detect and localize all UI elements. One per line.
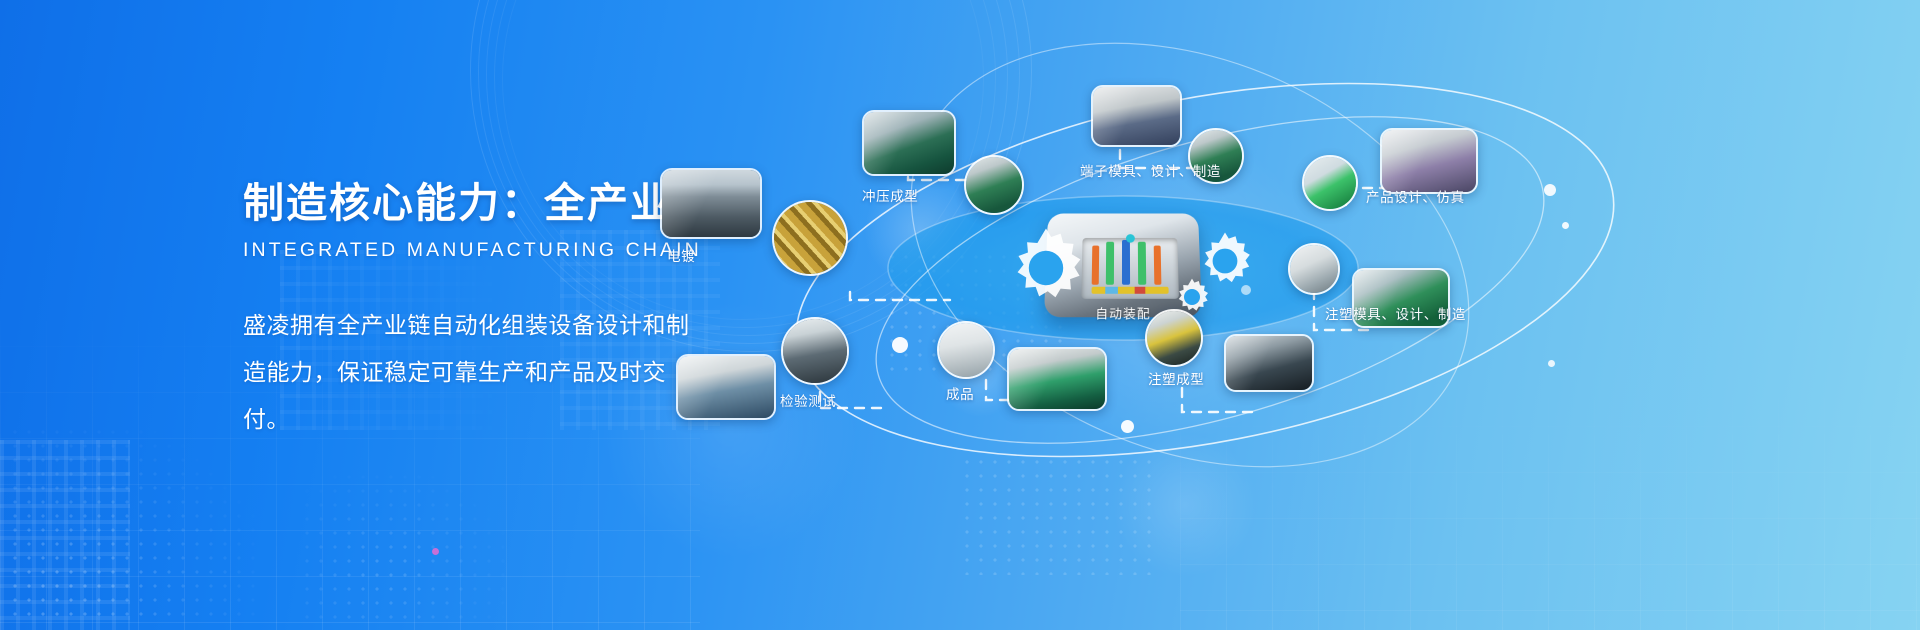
thumb-gloss: [678, 356, 774, 418]
thumb-gloss: [1382, 130, 1476, 192]
pin-green-2: [1138, 242, 1146, 285]
stamped-part-photo: [966, 157, 1022, 213]
page-description: 盛凌拥有全产业链自动化组装设备设计和制造能力，保证稳定可靠生产和产品及时交付。: [243, 302, 693, 443]
label-injection-form: 注塑成型: [1148, 368, 1204, 388]
machine-cavity: [1081, 238, 1179, 299]
node-product-design-icon[interactable]: [1302, 155, 1358, 211]
test-fixture-photo: [783, 319, 847, 383]
pin-blue: [1122, 240, 1130, 285]
thumb-gloss: [864, 112, 954, 174]
dot-grid-bottom-left: [8, 425, 258, 620]
connector-product-photo: [939, 323, 993, 377]
square-grid-left: [0, 440, 130, 630]
accent-dot-pink: [432, 548, 439, 555]
thumb-gloss: [1093, 87, 1180, 145]
dot-grid-mid-left: [300, 470, 510, 620]
pin-green-1: [1106, 242, 1114, 285]
manufacturing-chain-diagram: 自动装配: [790, 0, 1920, 630]
label-injection-mold: 注塑模具、设计、制造: [1325, 303, 1466, 323]
node-finished-product-icon[interactable]: [937, 321, 995, 379]
gold-terminal-photo: [774, 202, 846, 274]
label-inspection-test: 检验测试: [780, 390, 836, 410]
node-injection-form-icon[interactable]: [1145, 309, 1203, 367]
thumb-plating-line[interactable]: [660, 168, 762, 239]
thumb-gloss: [662, 170, 760, 237]
label-product-design: 产品设计、仿真: [1366, 186, 1465, 206]
3d-model-photo: [1304, 157, 1356, 209]
page-title: 制造核心能力：全产业链: [243, 180, 713, 227]
headline-block: 制造核心能力：全产业链 INTEGRATED MANUFACTURING CHA…: [243, 180, 713, 444]
thumb-inspection-lab[interactable]: [676, 354, 776, 420]
node-inspection-icon[interactable]: [781, 317, 849, 385]
label-electroplating: 电镀: [667, 245, 695, 265]
label-terminal-mold: 端子模具、设计、制造: [1080, 160, 1221, 180]
pin-orange-left: [1092, 246, 1100, 285]
node-electroplating-icon[interactable]: [772, 200, 848, 276]
robot-cell-photo: [1147, 311, 1201, 365]
thumb-injection-machine[interactable]: [1224, 334, 1314, 392]
label-finished-product: 成品: [946, 383, 974, 403]
thumb-gloss: [1226, 336, 1312, 390]
thumb-mold-workshop[interactable]: [1091, 85, 1182, 147]
gear-large-left: [1003, 225, 1089, 311]
pin-row-yellow: [1092, 287, 1169, 294]
pin-orange-right: [1154, 246, 1162, 285]
label-stamping: 冲压成型: [862, 185, 918, 205]
node-injection-mold-icon[interactable]: [1288, 243, 1340, 295]
thumb-assembly-belt[interactable]: [1007, 347, 1107, 411]
banner: 制造核心能力：全产业链 INTEGRATED MANUFACTURING CHA…: [0, 0, 1920, 630]
thumb-cad-office[interactable]: [1380, 128, 1478, 194]
mold-clamp-photo: [1290, 245, 1338, 293]
page-subtitle: INTEGRATED MANUFACTURING CHAIN: [243, 239, 713, 262]
thumb-gloss: [1009, 349, 1105, 409]
node-stamping-icon[interactable]: [964, 155, 1024, 215]
thumb-stamping-machine[interactable]: [862, 110, 956, 176]
pin-cyan-top: [1126, 234, 1135, 243]
